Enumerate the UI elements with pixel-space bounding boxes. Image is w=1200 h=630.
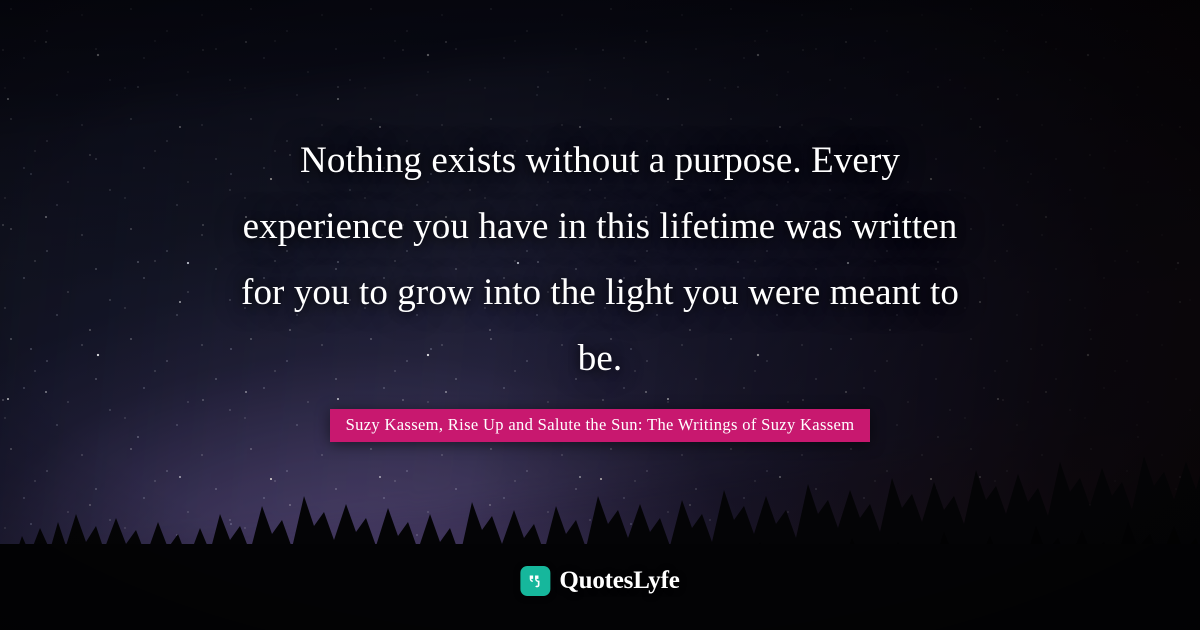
quote-card: Nothing exists without a purpose. Every … [0, 0, 1200, 630]
brand-name-label: QuotesLyfe [559, 567, 679, 595]
brand-logo[interactable]: QuotesLyfe [520, 566, 679, 596]
quote-marks-icon [520, 566, 550, 596]
attribution-badge[interactable]: Suzy Kassem, Rise Up and Salute the Sun:… [330, 409, 871, 442]
attribution-row: Suzy Kassem, Rise Up and Salute the Sun:… [0, 409, 1200, 442]
card-content: Nothing exists without a purpose. Every … [0, 0, 1200, 630]
quote-text: Nothing exists without a purpose. Every … [220, 128, 980, 391]
